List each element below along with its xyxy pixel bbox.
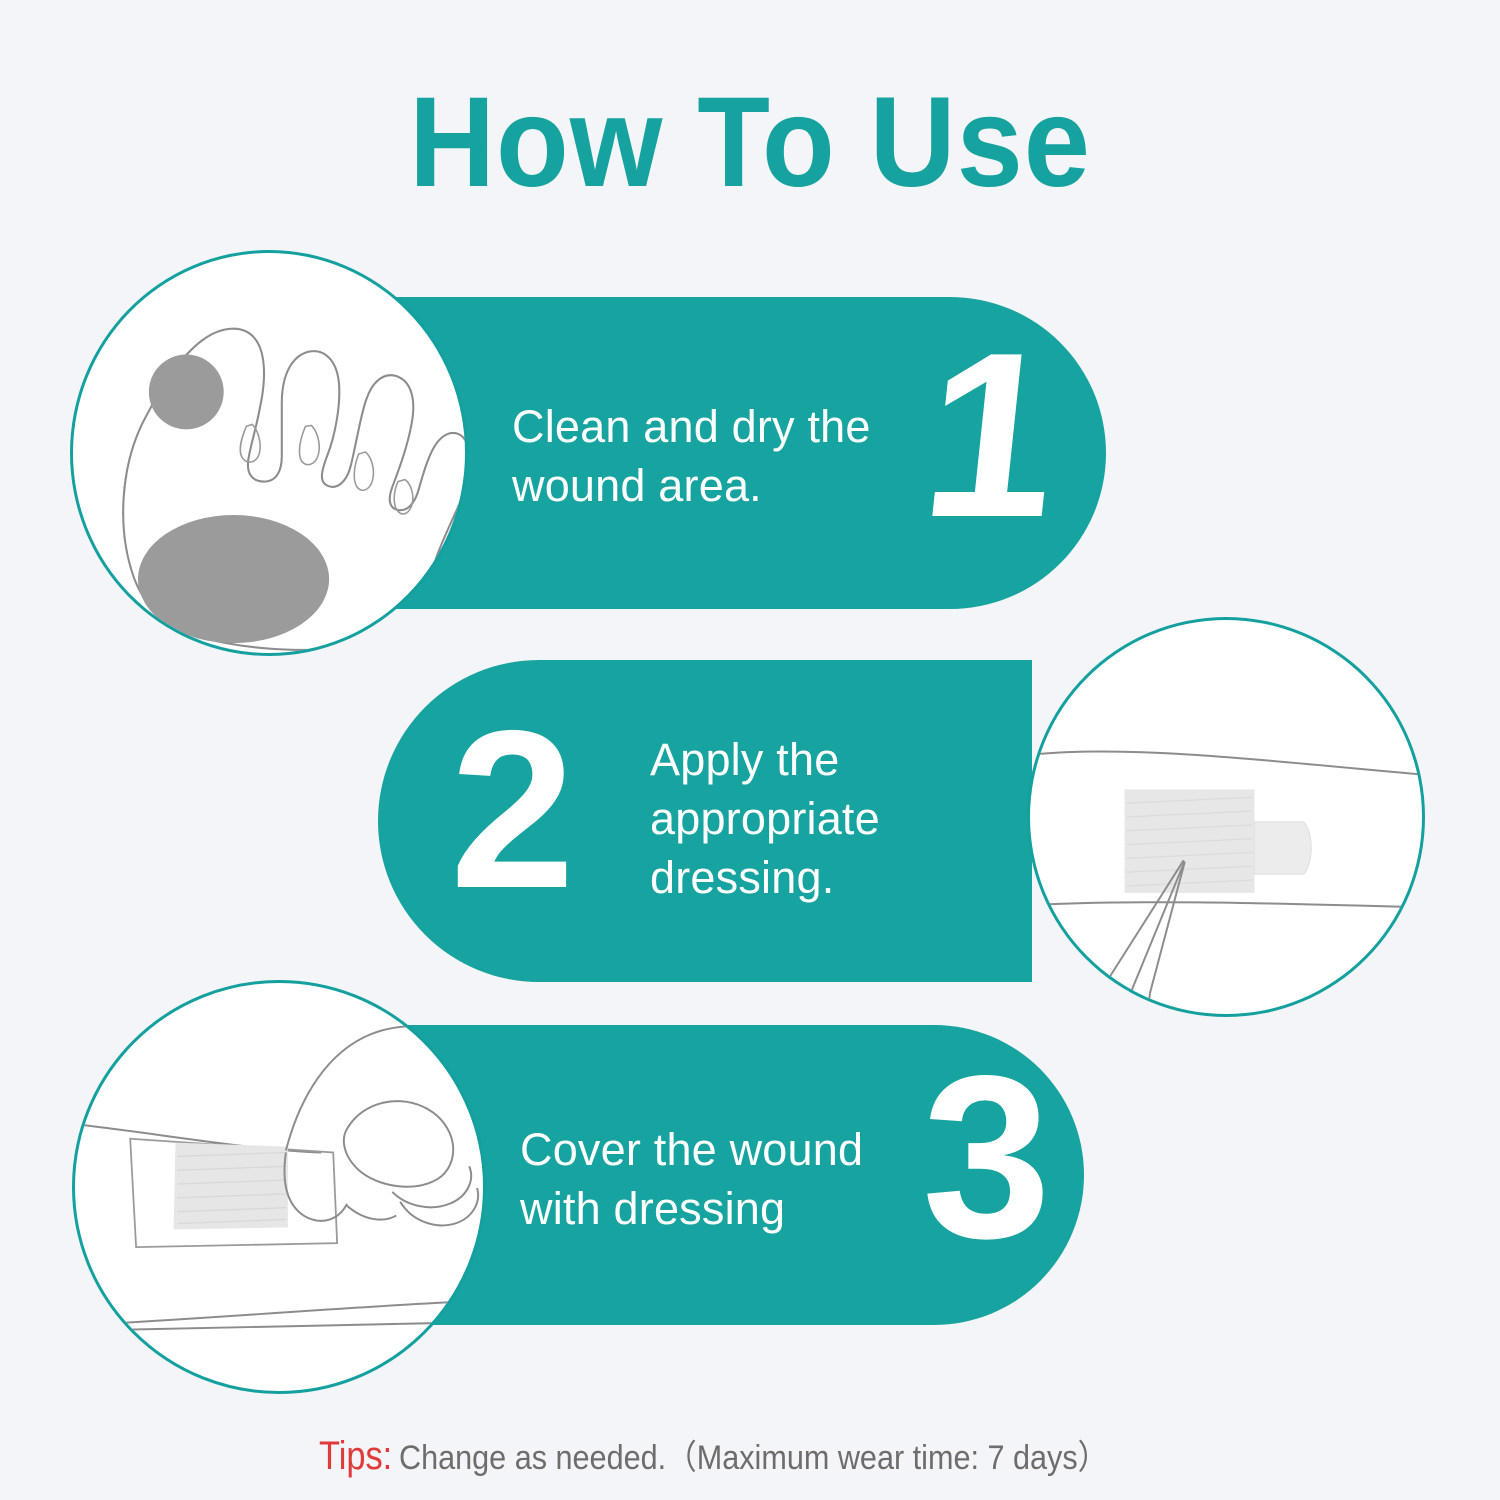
tips-body: Change as needed.（Maximum wear time: 7 d… bbox=[399, 1430, 1108, 1479]
foot-with-wounds-illustration bbox=[73, 253, 465, 653]
tips-footer: Tips:Change as needed.（Maximum wear time… bbox=[0, 1430, 1500, 1479]
step-2-number: 2 bbox=[450, 717, 575, 902]
tweezers-with-dressing-illustration bbox=[1030, 620, 1422, 1014]
step-1-illustration-circle bbox=[70, 250, 468, 656]
page-title: How To Use bbox=[53, 78, 1448, 208]
tips-label: Tips: bbox=[319, 1434, 392, 1479]
wound-spot-large bbox=[138, 515, 329, 643]
wound-spot-small bbox=[149, 355, 224, 430]
step-2-illustration-circle bbox=[1027, 617, 1425, 1017]
step-2-text: Apply the appropriate dressing. bbox=[650, 730, 880, 907]
step-3-illustration-circle bbox=[72, 980, 486, 1394]
how-to-use-infographic: How To Use Clean and dry the wound area.… bbox=[0, 0, 1500, 1500]
hand-applying-dressing-illustration bbox=[75, 983, 483, 1391]
step-1-number: 1 bbox=[916, 339, 1067, 532]
step-1-text: Clean and dry the wound area. bbox=[512, 397, 871, 515]
step-3-text: Cover the wound with dressing bbox=[520, 1120, 863, 1238]
step-3-number: 3 bbox=[922, 1063, 1051, 1253]
step-2-pill: 2 Apply the appropriate dressing. bbox=[378, 660, 1032, 982]
